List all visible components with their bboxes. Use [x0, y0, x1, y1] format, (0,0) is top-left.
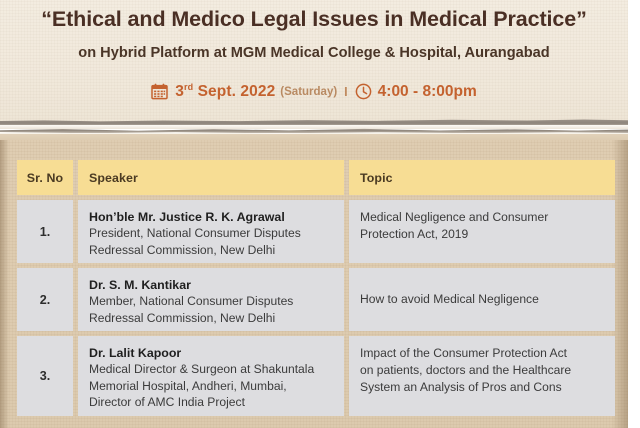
- row-sr-no-cell: 1.: [17, 200, 73, 263]
- row-sr-no: 2.: [40, 293, 51, 307]
- row-speaker-name: Dr. S. M. Kantikar: [89, 277, 334, 293]
- row-speaker-name: Hon’ble Mr. Justice R. K. Agrawal: [89, 209, 334, 225]
- table-header-speaker: Speaker: [78, 160, 344, 195]
- row-topic-cell: Impact of the Consumer Protection Act on…: [349, 336, 615, 416]
- table-header-topic: Topic: [349, 160, 615, 195]
- page-right-margin: [628, 0, 640, 428]
- event-meta-row: 3rd Sept. 2022 (Saturday) I 4:00 - 8:00p…: [0, 82, 628, 101]
- row-speaker-desc: Medical Director & Surgeon at Shakuntala…: [89, 361, 334, 410]
- table-header-row: Sr. No Speaker Topic: [17, 160, 615, 195]
- row-speaker-cell: Dr. Lalit Kapoor Medical Director & Surg…: [78, 336, 344, 416]
- row-sr-no: 1.: [40, 225, 51, 239]
- table-header-sr-no: Sr. No: [17, 160, 73, 195]
- table-row: 1. Hon’ble Mr. Justice R. K. Agrawal Pre…: [17, 200, 615, 263]
- row-sr-no-cell: 2.: [17, 268, 73, 331]
- page-subtitle: on Hybrid Platform at MGM Medical Colleg…: [0, 45, 628, 61]
- calendar-icon: [151, 83, 168, 100]
- event-time: 4:00 - 8:00pm: [378, 83, 477, 101]
- row-topic-text: Medical Negligence and Consumer Protecti…: [360, 209, 605, 243]
- table-row: 2. Dr. S. M. Kantikar Member, National C…: [17, 268, 615, 331]
- event-poster: “Ethical and Medico Legal Issues in Medi…: [0, 0, 640, 428]
- page-title: “Ethical and Medico Legal Issues in Medi…: [0, 7, 628, 32]
- event-date-rest: Sept. 2022: [193, 83, 275, 100]
- row-speaker-desc: Member, National Consumer Disputes Redre…: [89, 293, 334, 326]
- row-topic-cell: How to avoid Medical Negligence: [349, 268, 615, 331]
- table-header-sr-no-label: Sr. No: [27, 171, 63, 185]
- event-date-day: 3: [175, 83, 184, 100]
- event-date: 3rd Sept. 2022: [175, 82, 275, 101]
- table-row: 3. Dr. Lalit Kapoor Medical Director & S…: [17, 336, 615, 416]
- table-header-speaker-label: Speaker: [89, 171, 138, 185]
- row-topic-text: Impact of the Consumer Protection Act on…: [360, 345, 605, 396]
- event-date-ordinal: rd: [184, 82, 193, 92]
- event-weekday: (Saturday): [280, 86, 337, 98]
- torn-paper-divider: [0, 118, 628, 142]
- speaker-schedule-table: Sr. No Speaker Topic 1. Hon’ble Mr. Just…: [17, 160, 615, 421]
- row-sr-no-cell: 3.: [17, 336, 73, 416]
- row-speaker-name: Dr. Lalit Kapoor: [89, 345, 334, 361]
- row-speaker-cell: Hon’ble Mr. Justice R. K. Agrawal Presid…: [78, 200, 344, 263]
- row-speaker-cell: Dr. S. M. Kantikar Member, National Cons…: [78, 268, 344, 331]
- table-header-topic-label: Topic: [360, 171, 393, 185]
- row-sr-no: 3.: [40, 369, 51, 383]
- row-topic-text: How to avoid Medical Negligence: [360, 291, 539, 308]
- row-speaker-desc: President, National Consumer Disputes Re…: [89, 225, 334, 258]
- kraft-shadow-left: [0, 140, 9, 428]
- clock-icon: [355, 83, 372, 100]
- row-topic-cell: Medical Negligence and Consumer Protecti…: [349, 200, 615, 263]
- meta-separator: I: [342, 85, 349, 99]
